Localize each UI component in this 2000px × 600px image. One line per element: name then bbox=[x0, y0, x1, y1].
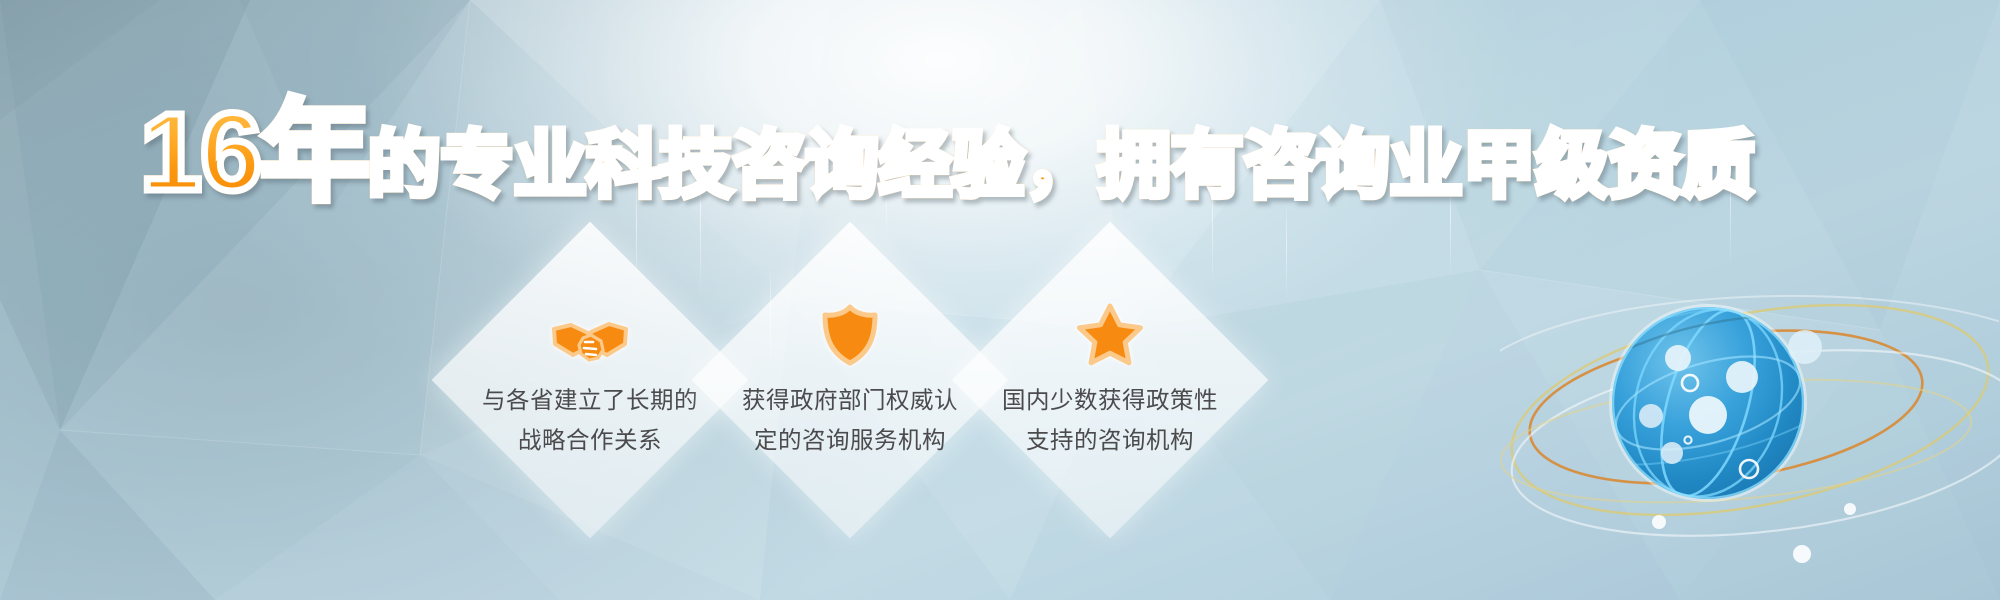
feature-card-partnership[interactable]: 与各省建立了长期的 战略合作关系 bbox=[478, 268, 702, 492]
globe-illustration bbox=[1500, 235, 2000, 600]
shield-icon bbox=[720, 292, 980, 366]
card-caption: 获得政府部门权威认 定的咨询服务机构 bbox=[720, 380, 980, 461]
card-caption-line2: 定的咨询服务机构 bbox=[720, 420, 980, 460]
card-caption-line2: 战略合作关系 bbox=[460, 420, 720, 460]
feature-card-policy-support[interactable]: 国内少数获得政策性 支持的咨询机构 bbox=[998, 268, 1222, 492]
card-caption-line2: 支持的咨询机构 bbox=[980, 420, 1240, 460]
card-caption: 与各省建立了长期的 战略合作关系 bbox=[460, 380, 720, 461]
card-caption-line1: 国内少数获得政策性 bbox=[980, 380, 1240, 420]
card-caption-line1: 与各省建立了长期的 bbox=[460, 380, 720, 420]
card-content: 国内少数获得政策性 支持的咨询机构 bbox=[980, 268, 1240, 461]
handshake-icon bbox=[460, 292, 720, 366]
card-content: 获得政府部门权威认 定的咨询服务机构 bbox=[720, 268, 980, 461]
promo-banner: 16年的专业科技咨询经验，拥有咨询业甲级资质 bbox=[0, 0, 2000, 600]
card-content: 与各省建立了长期的 战略合作关系 bbox=[460, 268, 720, 461]
card-caption-line1: 获得政府部门权威认 bbox=[720, 380, 980, 420]
card-caption: 国内少数获得政策性 支持的咨询机构 bbox=[980, 380, 1240, 461]
feature-card-authority[interactable]: 获得政府部门权威认 定的咨询服务机构 bbox=[738, 268, 962, 492]
star-icon bbox=[980, 292, 1240, 366]
